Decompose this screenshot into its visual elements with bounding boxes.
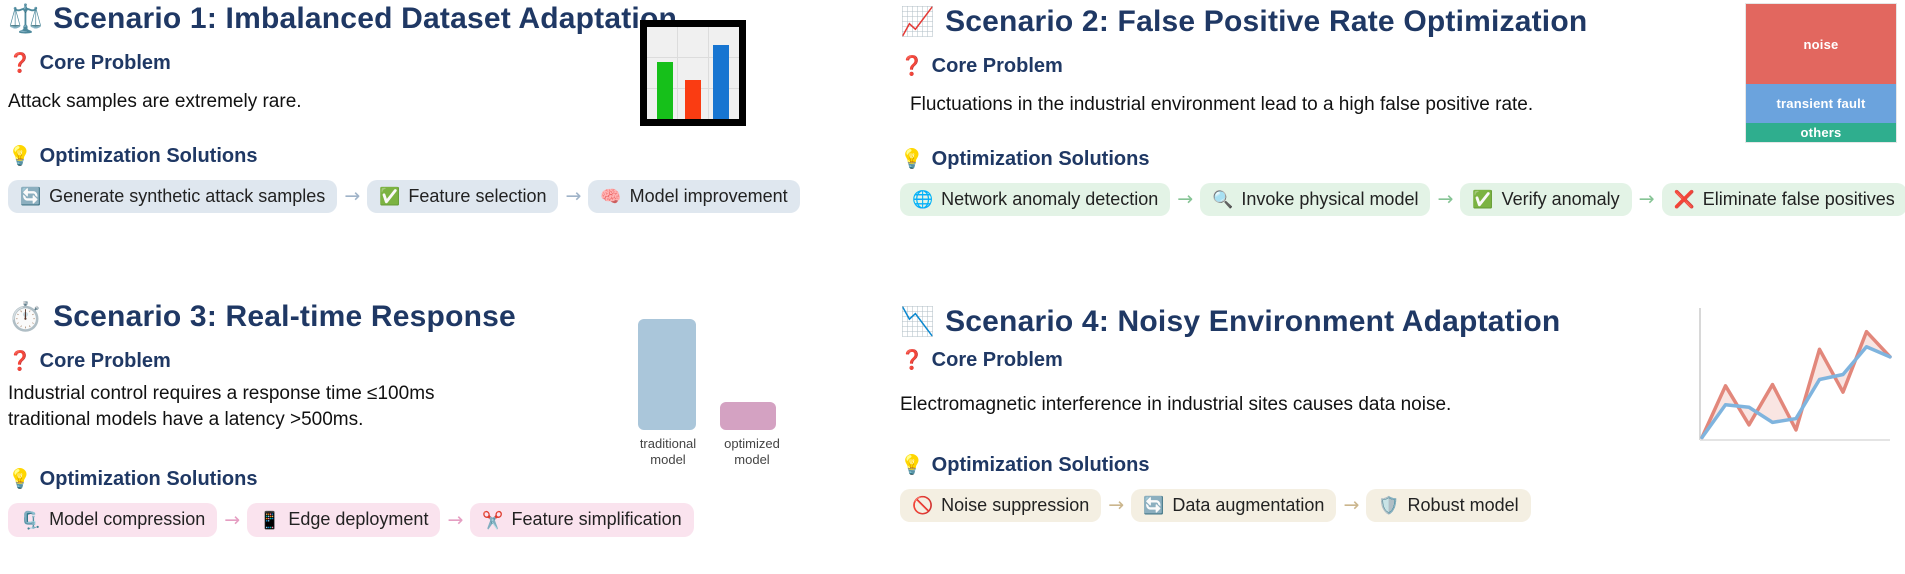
question-icon: ❓ bbox=[8, 54, 32, 73]
bar bbox=[720, 402, 776, 430]
bar-label: traditional model bbox=[638, 436, 698, 469]
solution-step-chip[interactable]: 🛡️ Robust model bbox=[1366, 489, 1530, 523]
gridline bbox=[677, 27, 678, 119]
light-bulb-icon: 💡 bbox=[8, 470, 32, 489]
scenario-1-solution-flow: 🔄 Generate synthetic attack samples → ✅ … bbox=[8, 180, 868, 214]
solution-step-chip[interactable]: 🔄 Generate synthetic attack samples bbox=[8, 180, 337, 214]
scenario-4-title: Scenario 4: Noisy Environment Adaptation bbox=[945, 305, 1560, 339]
line-chart-plot-area bbox=[1690, 300, 1895, 458]
scenario-4-core-problem-heading: ❓ Core Problem bbox=[900, 349, 1800, 372]
bar-column bbox=[720, 402, 776, 430]
solution-step-chip[interactable]: ✂️ Feature simplification bbox=[470, 503, 693, 537]
solution-step-label: Robust model bbox=[1408, 496, 1519, 516]
stack-segment-label: transient fault bbox=[1777, 96, 1866, 111]
check-box-icon: ✅ bbox=[379, 188, 400, 205]
scenario-3-title: Scenario 3: Real-time Response bbox=[53, 300, 516, 334]
flow-arrow-icon: → bbox=[440, 511, 470, 530]
brain-icon: 🧠 bbox=[600, 188, 621, 205]
solution-step-label: Data augmentation bbox=[1172, 496, 1324, 516]
cross-mark-icon: ❌ bbox=[1674, 191, 1695, 208]
magnifier-icon: 🔍 bbox=[1212, 191, 1233, 208]
core-problem-label: Core Problem bbox=[40, 52, 171, 75]
solution-step-label: Model improvement bbox=[630, 187, 788, 207]
recycle-icon: 🔄 bbox=[20, 188, 41, 205]
scenario-1-bar-chart-glyph bbox=[640, 20, 746, 126]
bar-chart-axis-labels: traditional model optimized model bbox=[638, 430, 782, 469]
flow-arrow-icon: → bbox=[1430, 190, 1460, 209]
question-icon: ❓ bbox=[8, 352, 32, 371]
stack-segment: noise bbox=[1746, 4, 1896, 84]
optimization-solutions-label: Optimization Solutions bbox=[932, 454, 1150, 477]
stack-segment: others bbox=[1746, 123, 1896, 142]
solution-step-label: Feature simplification bbox=[512, 510, 682, 530]
check-box-icon: ✅ bbox=[1472, 191, 1493, 208]
flow-arrow-icon: → bbox=[1170, 190, 1200, 209]
bar-column bbox=[638, 319, 696, 430]
scenario-4-panel: 📉 Scenario 4: Noisy Environment Adaptati… bbox=[900, 305, 1800, 522]
solution-step-label: Model compression bbox=[49, 510, 205, 530]
bar-label: optimized model bbox=[722, 436, 782, 469]
shield-icon: 🛡️ bbox=[1378, 497, 1399, 514]
scenario-4-problem-text: Electromagnetic interference in industri… bbox=[900, 392, 1800, 418]
bar-chart-plot-area bbox=[638, 308, 782, 430]
bar-chart-plot-area bbox=[647, 27, 739, 119]
chart-increasing-icon: 📈 bbox=[900, 8, 935, 36]
flow-arrow-icon: → bbox=[1101, 496, 1131, 515]
scissors-icon: ✂️ bbox=[482, 512, 503, 529]
bar bbox=[657, 62, 673, 119]
light-bulb-icon: 💡 bbox=[900, 456, 924, 475]
solution-step-label: Feature selection bbox=[408, 187, 546, 207]
light-bulb-icon: 💡 bbox=[900, 150, 924, 169]
scenario-3-solution-flow: 🗜️ Model compression → 📱 Edge deployment… bbox=[8, 503, 768, 537]
solution-step-chip[interactable]: 🗜️ Model compression bbox=[8, 503, 217, 537]
bar bbox=[713, 45, 729, 119]
optimization-solutions-label: Optimization Solutions bbox=[932, 148, 1150, 171]
core-problem-label: Core Problem bbox=[40, 350, 171, 373]
scenario-2-solution-flow: 🌐 Network anomaly detection → 🔍 Invoke p… bbox=[900, 183, 1900, 217]
scenario-4-noise-line-chart bbox=[1690, 300, 1895, 458]
flow-arrow-icon: → bbox=[1336, 496, 1366, 515]
solution-step-label: Generate synthetic attack samples bbox=[49, 187, 325, 207]
stack-segment: transient fault bbox=[1746, 84, 1896, 123]
scenario-4-solution-flow: 🚫 Noise suppression → 🔄 Data augmentatio… bbox=[900, 489, 1800, 523]
optimization-solutions-label: Optimization Solutions bbox=[40, 468, 258, 491]
scenario-4-title-row: 📉 Scenario 4: Noisy Environment Adaptati… bbox=[900, 305, 1800, 339]
mobile-phone-icon: 📱 bbox=[259, 512, 280, 529]
question-icon: ❓ bbox=[900, 57, 924, 76]
infographic-board: ⚖️ Scenario 1: Imbalanced Dataset Adapta… bbox=[0, 0, 1905, 574]
balance-scale-icon: ⚖️ bbox=[8, 5, 43, 33]
globe-icon: 🌐 bbox=[912, 191, 933, 208]
scenario-1-solutions-heading: 💡 Optimization Solutions bbox=[8, 145, 868, 168]
scenario-3-solutions-heading: 💡 Optimization Solutions bbox=[8, 468, 768, 491]
solution-step-chip[interactable]: 🚫 Noise suppression bbox=[900, 489, 1101, 523]
solution-step-label: Network anomaly detection bbox=[941, 190, 1158, 210]
bar bbox=[638, 319, 696, 430]
light-bulb-icon: 💡 bbox=[8, 147, 32, 166]
question-icon: ❓ bbox=[900, 351, 924, 370]
solution-step-chip[interactable]: 🌐 Network anomaly detection bbox=[900, 183, 1170, 217]
stack-segment-label: others bbox=[1801, 125, 1842, 140]
chart-decreasing-icon: 📉 bbox=[900, 308, 935, 336]
solution-step-chip[interactable]: ✅ Verify anomaly bbox=[1460, 183, 1631, 217]
bar bbox=[685, 80, 701, 119]
core-problem-label: Core Problem bbox=[932, 349, 1063, 372]
no-entry-icon: 🚫 bbox=[912, 497, 933, 514]
solution-step-label: Edge deployment bbox=[288, 510, 428, 530]
flow-arrow-icon: → bbox=[558, 187, 588, 206]
solution-step-label: Verify anomaly bbox=[1502, 190, 1620, 210]
scenario-2-title: Scenario 2: False Positive Rate Optimiza… bbox=[945, 5, 1587, 39]
scenario-2-solutions-heading: 💡 Optimization Solutions bbox=[900, 148, 1900, 171]
flow-arrow-icon: → bbox=[1632, 190, 1662, 209]
recycle-icon: 🔄 bbox=[1143, 497, 1164, 514]
solution-step-chip[interactable]: 🔍 Invoke physical model bbox=[1200, 183, 1430, 217]
compression-icon: 🗜️ bbox=[20, 512, 41, 529]
solution-step-chip[interactable]: 🧠 Model improvement bbox=[588, 180, 799, 214]
solution-step-chip[interactable]: 🔄 Data augmentation bbox=[1131, 489, 1336, 523]
solution-step-chip[interactable]: 📱 Edge deployment bbox=[247, 503, 440, 537]
scenario-2-stacked-bar-chart: noise transient fault others bbox=[1745, 3, 1897, 143]
optimization-solutions-label: Optimization Solutions bbox=[40, 145, 258, 168]
solution-step-label: Eliminate false positives bbox=[1703, 190, 1895, 210]
stack-segment-label: noise bbox=[1804, 37, 1839, 52]
solution-step-chip[interactable]: ❌ Eliminate false positives bbox=[1662, 183, 1905, 217]
core-problem-label: Core Problem bbox=[932, 55, 1063, 78]
solution-step-label: Noise suppression bbox=[941, 496, 1089, 516]
solution-step-chip[interactable]: ✅ Feature selection bbox=[367, 180, 558, 214]
scenario-4-solutions-heading: 💡 Optimization Solutions bbox=[900, 454, 1800, 477]
flow-arrow-icon: → bbox=[337, 187, 367, 206]
flow-arrow-icon: → bbox=[217, 511, 247, 530]
stopwatch-icon: ⏱️ bbox=[8, 303, 43, 331]
gridline bbox=[708, 27, 709, 119]
scenario-1-title: Scenario 1: Imbalanced Dataset Adaptatio… bbox=[53, 2, 677, 36]
scenario-3-latency-bar-chart: traditional model optimized model bbox=[638, 308, 782, 469]
solution-step-label: Invoke physical model bbox=[1241, 190, 1418, 210]
